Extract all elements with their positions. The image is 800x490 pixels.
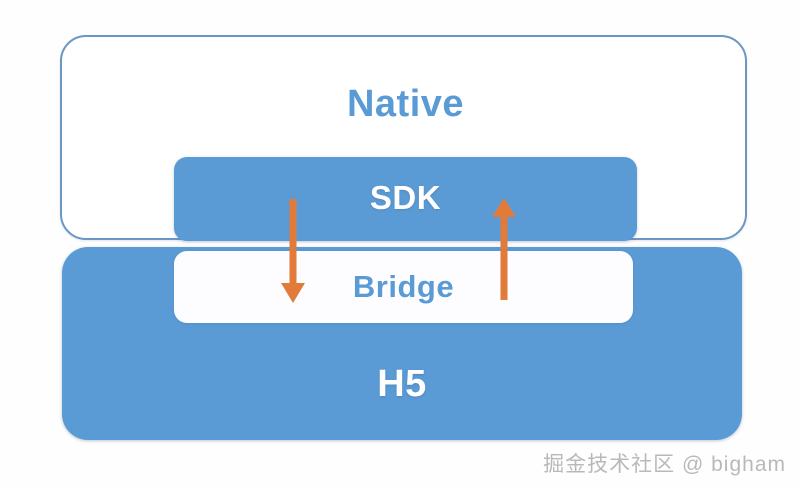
sdk-box-label: SDK <box>174 179 637 217</box>
bridge-box-label: Bridge <box>174 269 633 305</box>
diagram-canvas: Native H5 SDK Bridge 掘金技术社区 @ bigham <box>0 0 800 490</box>
watermark-text: 掘金技术社区 @ bigham <box>543 448 786 478</box>
h5-layer-label: H5 <box>62 363 742 406</box>
sdk-box: SDK <box>174 157 637 241</box>
native-layer-label: Native <box>62 37 749 126</box>
bridge-box: Bridge <box>174 251 633 323</box>
